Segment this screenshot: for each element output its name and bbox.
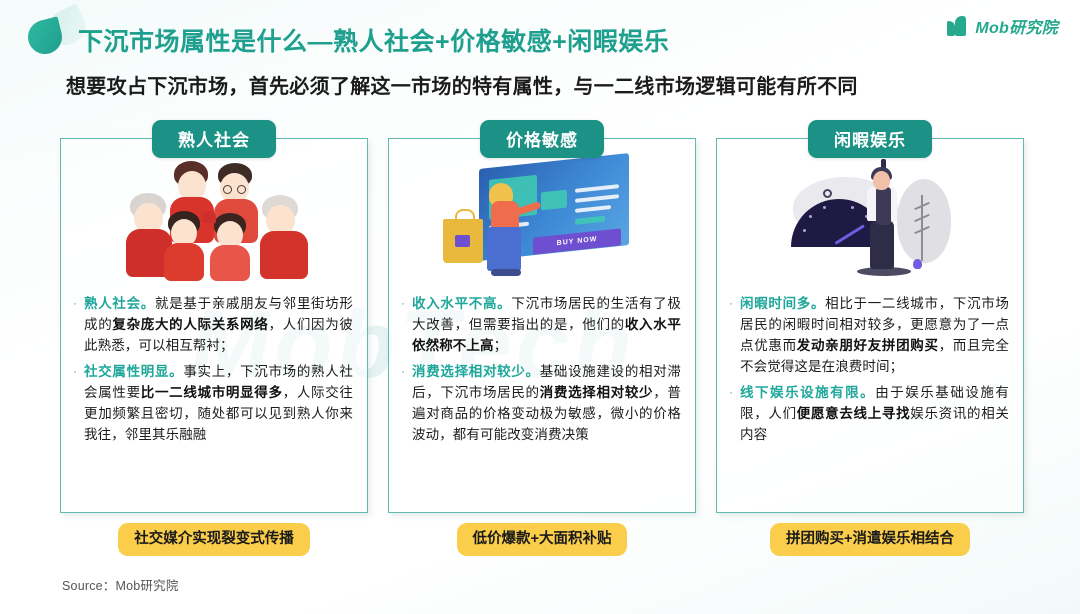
list-item: · 线下娱乐设施有限。由于娱乐基础设施有限，人们便愿意去线上寻找娱乐资讯的相关内… <box>729 382 1009 445</box>
slide-root: 下沉市场属性是什么—熟人社会+价格敏感+闲暇娱乐 想要攻占下沉市场，首先必须了解… <box>0 0 1080 614</box>
bullet-emphasis: 比一二线城市明显得多 <box>141 385 283 400</box>
leaf-logo-icon <box>947 16 969 36</box>
bullet-dot-icon: · <box>401 361 405 445</box>
column-chip: 熟人社会 <box>152 120 276 158</box>
bullet-lead: 线下娱乐设施有限。 <box>740 385 875 400</box>
bullet-dot-icon: · <box>73 293 77 356</box>
bullet-emphasis: 复杂庞大的人际关系网络 <box>112 317 268 332</box>
leisure-illustration <box>717 151 1023 287</box>
bullet-lead: 社交属性明显。 <box>84 364 183 379</box>
bullet-lead: 消费选择相对较少。 <box>412 364 540 379</box>
bullet-dot-icon: · <box>401 293 405 356</box>
bullet-text: 熟人社会。就是基于亲戚朋友与邻里街坊形成的复杂庞大的人际关系网络，人们因为彼此熟… <box>84 293 353 356</box>
bullet-list: · 熟人社会。就是基于亲戚朋友与邻里街坊形成的复杂庞大的人际关系网络，人们因为彼… <box>61 287 367 445</box>
bullet-emphasis: 发动亲朋好友拼团购买 <box>797 338 939 353</box>
bullet-lead: 收入水平不高。 <box>412 296 511 311</box>
list-item: · 消费选择相对较少。基础设施建设的相对滞后，下沉市场居民的消费选择相对较少，普… <box>401 361 681 445</box>
bullet-text: 线下娱乐设施有限。由于娱乐基础设施有限，人们便愿意去线上寻找娱乐资讯的相关内容 <box>740 382 1009 445</box>
bullet-emphasis: 消费选择相对较少 <box>540 385 654 400</box>
shopping-bag-icon <box>443 219 483 263</box>
columns-container: 熟人社会 <box>60 120 1025 560</box>
bullet-text: 闲暇时间多。相比于一二线城市，下沉市场居民的闲暇时间相对较多，更愿意为了一点点优… <box>740 293 1009 377</box>
bullet-text: 收入水平不高。下沉市场居民的生活有了极大改善，但需要指出的是，他们的收入水平依然… <box>412 293 681 356</box>
bullet-list: · 闲暇时间多。相比于一二线城市，下沉市场居民的闲暇时间相对较多，更愿意为了一点… <box>717 287 1023 445</box>
list-item: · 熟人社会。就是基于亲戚朋友与邻里街坊形成的复杂庞大的人际关系网络，人们因为彼… <box>73 293 353 356</box>
brand-logo: Mob研究院 <box>947 14 1058 38</box>
bullet-lead: 熟人社会。 <box>84 296 155 311</box>
bullet-text: 消费选择相对较少。基础设施建设的相对滞后，下沉市场居民的消费选择相对较少，普遍对… <box>412 361 681 445</box>
bullet-dot-icon: · <box>729 293 733 377</box>
badges-row: 社交媒介实现裂变式传播 低价爆款+大面积补贴 拼团购买+消遣娱乐相结合 <box>60 523 1025 556</box>
list-item: · 社交属性明显。事实上，下沉市场的熟人社会属性要比一二线城市明显得多，人际交往… <box>73 361 353 445</box>
column-card: · 熟人社会。就是基于亲戚朋友与邻里街坊形成的复杂庞大的人际关系网络，人们因为彼… <box>60 138 368 513</box>
bullet-list: · 收入水平不高。下沉市场居民的生活有了极大改善，但需要指出的是，他们的收入水平… <box>389 287 695 445</box>
column-card: BUY NOW · 收入水平不高。下沉市场居民的生活有了极大改善，但需要指出的是… <box>388 138 696 513</box>
summary-badge: 拼团购买+消遣娱乐相结合 <box>770 523 970 556</box>
column-card: · 闲暇时间多。相比于一二线城市，下沉市场居民的闲暇时间相对较多，更愿意为了一点… <box>716 138 1024 513</box>
list-item: · 收入水平不高。下沉市场居民的生活有了极大改善，但需要指出的是，他们的收入水平… <box>401 293 681 356</box>
bullet-body: ； <box>494 338 508 353</box>
column-acquaintance-society: 熟人社会 <box>60 120 368 560</box>
bullet-dot-icon: · <box>73 361 77 445</box>
page-subtitle: 想要攻占下沉市场，首先必须了解这一市场的特有属性，与一二线市场逻辑可能有所不同 <box>66 70 858 99</box>
bullet-emphasis: 便愿意去线上寻找 <box>797 406 911 421</box>
online-shopping-illustration: BUY NOW <box>389 151 695 287</box>
brand-logo-text: Mob研究院 <box>975 14 1058 38</box>
summary-badge: 低价爆款+大面积补贴 <box>457 523 628 556</box>
column-chip: 价格敏感 <box>480 120 604 158</box>
list-item: · 闲暇时间多。相比于一二线城市，下沉市场居民的闲暇时间相对较多，更愿意为了一点… <box>729 293 1009 377</box>
column-leisure-entertainment: 闲暇娱乐 <box>716 120 1024 560</box>
bullet-dot-icon: · <box>729 382 733 445</box>
column-chip: 闲暇娱乐 <box>808 120 932 158</box>
source-label: Source：Mob研究院 <box>62 575 179 594</box>
bullet-lead: 闲暇时间多。 <box>740 296 825 311</box>
bullet-text: 社交属性明显。事实上，下沉市场的熟人社会属性要比一二线城市明显得多，人际交往更加… <box>84 361 353 445</box>
page-title: 下沉市场属性是什么—熟人社会+价格敏感+闲暇娱乐 <box>78 22 669 58</box>
column-price-sensitive: 价格敏感 BUY NOW <box>388 120 696 560</box>
family-illustration <box>61 151 367 287</box>
summary-badge: 社交媒介实现裂变式传播 <box>118 523 310 556</box>
